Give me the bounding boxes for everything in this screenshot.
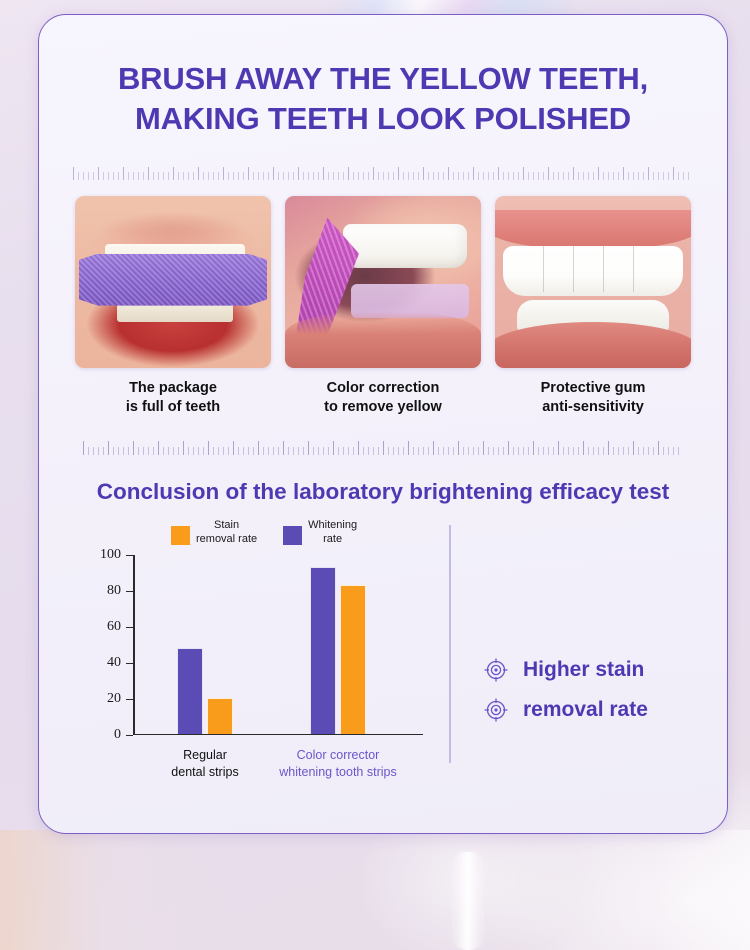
- y-axis-tick-label: 100: [87, 547, 121, 563]
- feature-item-1: The package is full of teeth: [75, 196, 271, 418]
- y-axis-tick: [126, 591, 133, 593]
- strip-applied-on-teeth-photo: [75, 196, 271, 368]
- lower-lip: [495, 322, 691, 368]
- target-icon: [483, 657, 509, 683]
- page-title: BRUSH AWAY THE YELLOW TEETH, MAKING TEET…: [39, 59, 727, 140]
- bar-whitening-rate: [310, 567, 336, 734]
- y-axis-tick: [126, 627, 133, 629]
- tooth-gap-line: [543, 246, 544, 292]
- vertical-divider: [449, 525, 451, 763]
- caption-line-2: to remove yellow: [285, 398, 481, 417]
- infographic-card: BRUSH AWAY THE YELLOW TEETH, MAKING TEET…: [38, 14, 728, 834]
- feature-item-3: Protective gum anti-sensitivity: [495, 196, 691, 418]
- y-axis-tick-label: 40: [87, 655, 121, 671]
- legend-item-stain-removal-rate: Stain removal rate: [171, 519, 257, 547]
- upper-lip-shade: [75, 196, 271, 248]
- callout-line-2: removal rate: [523, 698, 648, 722]
- whitened-teeth: [343, 224, 467, 268]
- highlight-callout: Higher stain removal rate: [483, 657, 648, 723]
- callout-row-2: removal rate: [483, 697, 648, 723]
- legend-item-whitening-rate: Whitening rate: [283, 519, 357, 547]
- x-axis-label: Color correctorwhitening tooth strips: [279, 747, 396, 780]
- x-axis: [133, 734, 423, 736]
- efficacy-bar-chart: Stain removal rate Whitening rate 020406…: [63, 519, 703, 789]
- ruler-divider-bottom: [83, 439, 683, 455]
- tooth-gap-line: [633, 246, 634, 292]
- upper-lip: [495, 210, 691, 250]
- legend-swatch-purple: [283, 526, 302, 545]
- caption-line-2: anti-sensitivity: [495, 398, 691, 417]
- lower-lip: [285, 312, 481, 368]
- caption-line-2: is full of teeth: [75, 398, 271, 417]
- y-axis-tick-label: 20: [87, 691, 121, 707]
- feature-caption-2: Color correction to remove yellow: [285, 379, 481, 418]
- headline-line-2: MAKING TEETH LOOK POLISHED: [39, 99, 727, 139]
- y-axis-tick-label: 80: [87, 583, 121, 599]
- bar-stain-removal-rate: [340, 585, 366, 734]
- y-axis-tick: [126, 555, 133, 557]
- tooth-gap-line: [603, 246, 604, 292]
- bar-stain-removal-rate: [207, 698, 233, 734]
- callout-row-1: Higher stain: [483, 657, 648, 683]
- y-axis-tick-label: 0: [87, 727, 121, 743]
- callout-line-1: Higher stain: [523, 658, 644, 682]
- whitening-strip: [79, 254, 267, 306]
- chart-legend: Stain removal rate Whitening rate: [171, 519, 357, 547]
- caption-line-1: The package: [75, 379, 271, 398]
- white-smile-result-photo: [495, 196, 691, 368]
- y-axis: [133, 555, 135, 735]
- tooth-gap-line: [573, 246, 574, 292]
- feature-item-2: Color correction to remove yellow: [285, 196, 481, 418]
- bar-whitening-rate: [177, 648, 203, 734]
- section-title: Conclusion of the laboratory brightening…: [39, 479, 727, 505]
- legend-label-stain-removal-rate: Stain removal rate: [196, 519, 257, 547]
- caption-line-1: Color correction: [285, 379, 481, 398]
- y-axis-tick: [126, 663, 133, 665]
- caption-line-1: Protective gum: [495, 379, 691, 398]
- legend-swatch-orange: [171, 526, 190, 545]
- y-axis-tick: [126, 699, 133, 701]
- strip-peeling-off-photo: [285, 196, 481, 368]
- x-axis-label: Regulardental strips: [171, 747, 238, 780]
- y-axis-tick-label: 60: [87, 619, 121, 635]
- chart-plot-area: 020406080100 Regulardental stripsColor c…: [133, 555, 423, 735]
- feature-photo-row: The package is full of teeth Color corre…: [39, 196, 727, 418]
- target-icon: [483, 697, 509, 723]
- zipper-detail: [455, 852, 481, 950]
- headline-line-1: BRUSH AWAY THE YELLOW TEETH,: [39, 59, 727, 99]
- ruler-divider-top: [73, 164, 693, 180]
- upper-teeth-row: [503, 246, 683, 296]
- y-axis-tick: [126, 735, 133, 737]
- legend-label-whitening-rate: Whitening rate: [308, 519, 357, 547]
- feature-caption-1: The package is full of teeth: [75, 379, 271, 418]
- feature-caption-3: Protective gum anti-sensitivity: [495, 379, 691, 418]
